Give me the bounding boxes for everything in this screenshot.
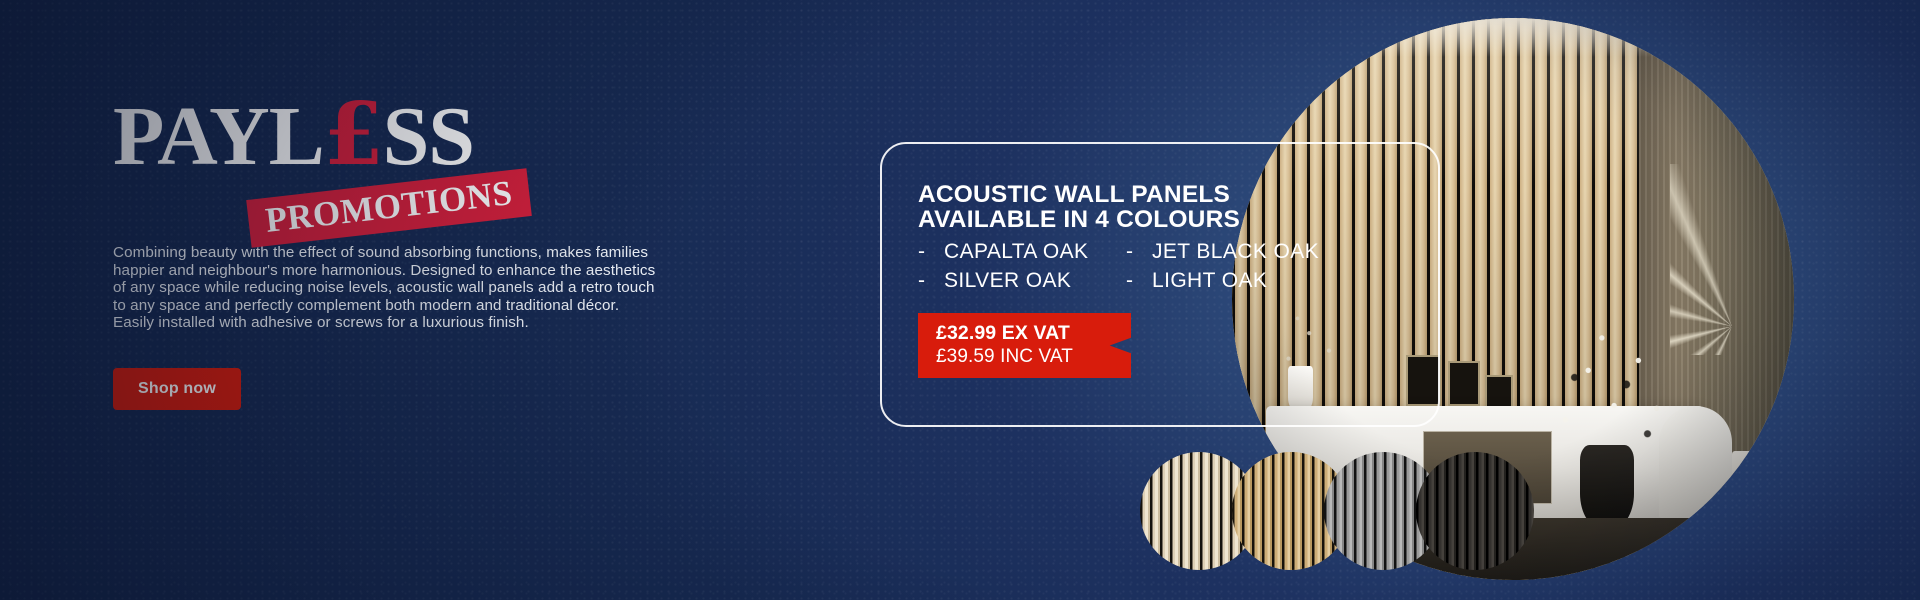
promo-heading-line1: ACOUSTIC WALL PANELS	[918, 182, 1348, 207]
colour-option-label: JET BLACK OAK	[1152, 239, 1319, 264]
bullet-dash: -	[918, 268, 944, 293]
price-inc-vat: £39.59 INC VAT	[936, 345, 1131, 368]
left-content-column: PAYL£SS PROMOTIONS Combining beauty with…	[113, 92, 713, 410]
promo-heading-line2: AVAILABLE IN 4 COLOURS	[918, 207, 1348, 232]
promo-banner: PAYL£SS PROMOTIONS Combining beauty with…	[0, 0, 1920, 600]
colour-option-label: CAPALTA OAK	[944, 239, 1088, 264]
payless-wordmark: PAYL£SS	[113, 92, 474, 179]
wordmark-part2: SS	[383, 90, 474, 183]
colour-options-list: - CAPALTA OAK - JET BLACK OAK - SILVER O…	[918, 239, 1348, 293]
promo-heading: ACOUSTIC WALL PANELS AVAILABLE IN 4 COLO…	[918, 182, 1348, 232]
colour-option-capalta-oak: - CAPALTA OAK	[918, 239, 1126, 264]
colour-option-silver-oak: - SILVER OAK	[918, 268, 1126, 293]
bullet-dash: -	[918, 239, 944, 264]
wordmark-part1: PAYL	[113, 90, 324, 183]
colour-option-label: LIGHT OAK	[1152, 268, 1267, 293]
shop-now-button[interactable]: Shop now	[113, 368, 241, 410]
payless-promotions-logo: PAYL£SS PROMOTIONS	[113, 92, 713, 222]
price-ex-vat: £32.99 EX VAT	[936, 322, 1131, 345]
bullet-dash: -	[1126, 239, 1152, 264]
colour-option-light-oak: - LIGHT OAK	[1126, 268, 1348, 293]
colour-option-label: SILVER OAK	[944, 268, 1071, 293]
pound-symbol-icon: £	[324, 84, 383, 185]
promo-card-content: ACOUSTIC WALL PANELS AVAILABLE IN 4 COLO…	[918, 182, 1348, 378]
bullet-dash: -	[1126, 268, 1152, 293]
swatch-jet-black-oak[interactable]	[1416, 452, 1534, 570]
price-tag: £32.99 EX VAT £39.59 INC VAT	[918, 313, 1131, 378]
intro-paragraph: Combining beauty with the effect of soun…	[113, 244, 658, 332]
promotions-badge-label: PROMOTIONS	[264, 175, 515, 239]
colour-option-jet-black-oak: - JET BLACK OAK	[1126, 239, 1348, 264]
